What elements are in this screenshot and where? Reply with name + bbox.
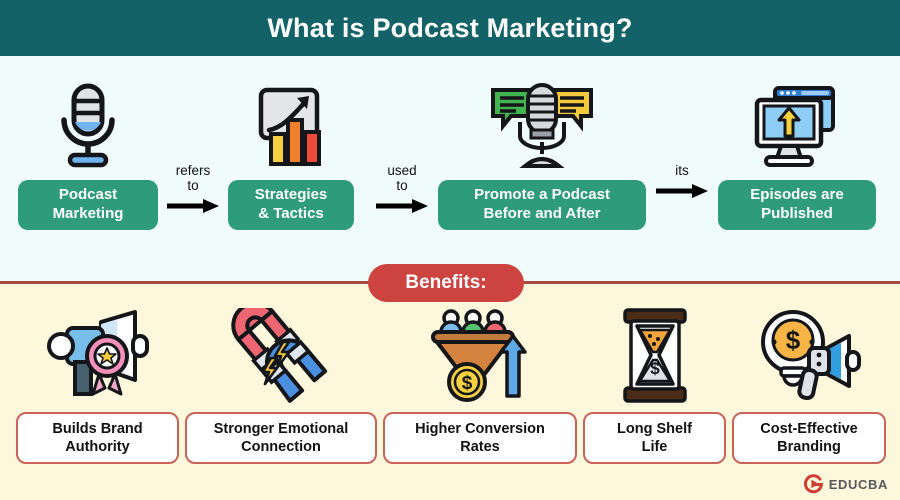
- flow-label-episodes-published: Episodes are Published: [718, 180, 876, 230]
- benefit-label-cost-effective-branding: Cost-Effective Branding: [732, 412, 886, 464]
- header-banner: What is Podcast Marketing?: [0, 0, 900, 56]
- flow-label-strategies-tactics: Strategies & Tactics: [228, 180, 354, 230]
- arrow-right-icon: [654, 183, 710, 199]
- page-title: What is Podcast Marketing?: [267, 13, 632, 44]
- connector-label-refers-to: refers to: [176, 164, 211, 194]
- connector-label-its: its: [675, 164, 689, 179]
- conversion-funnel-icon: $: [425, 306, 535, 404]
- microphone-icon: [52, 80, 124, 172]
- educba-wordmark: EDUCBA: [829, 477, 888, 492]
- benefits-pill-label: Benefits:: [405, 272, 486, 294]
- monitor-upload-icon: [749, 80, 845, 172]
- connector-label-used-to: used to: [387, 164, 416, 194]
- benefit-item-cost-effective-branding: $ Cost-Effective Branding: [732, 306, 886, 464]
- magnet-link-icon: [231, 306, 331, 404]
- benefit-item-long-shelf-life: $ Long Shelf Life: [583, 306, 726, 464]
- connector-used-to: used to: [372, 164, 432, 214]
- benefit-item-higher-conversion-rates: $ Higher Conversion Rates: [383, 306, 577, 464]
- lightbulb-megaphone-icon: $: [757, 306, 861, 404]
- flow-node-podcast-marketing: Podcast Marketing: [18, 80, 158, 230]
- flow-node-promote-podcast: Promote a Podcast Before and After: [438, 80, 646, 230]
- svg-text:$: $: [786, 325, 801, 355]
- arrow-right-icon: [165, 198, 221, 214]
- connector-its: its: [652, 164, 712, 199]
- flow-node-strategies-tactics: Strategies & Tactics: [228, 80, 354, 230]
- connector-refers-to: refers to: [163, 164, 223, 214]
- benefit-item-stronger-emotional-connection: Stronger Emotional Connection: [185, 306, 377, 464]
- benefit-label-stronger-emotional-connection: Stronger Emotional Connection: [185, 412, 377, 464]
- svg-text:$: $: [462, 373, 473, 394]
- megaphone-award-icon: [45, 306, 151, 404]
- studio-mic-chat-icon: [483, 80, 601, 172]
- benefit-item-builds-brand-authority: Builds Brand Authority: [16, 306, 179, 464]
- benefit-label-long-shelf-life: Long Shelf Life: [583, 412, 726, 464]
- hourglass-money-icon: $: [619, 306, 691, 404]
- arrow-right-icon: [374, 198, 430, 214]
- infographic-canvas: What is Podcast Marketing? Podcast Marke…: [0, 0, 900, 500]
- benefit-label-higher-conversion-rates: Higher Conversion Rates: [383, 412, 577, 464]
- educba-logo: EDUCBA: [804, 474, 888, 494]
- svg-text:$: $: [650, 359, 660, 378]
- flow-label-podcast-marketing: Podcast Marketing: [18, 180, 158, 230]
- benefits-pill: Benefits:: [368, 264, 524, 302]
- bar-chart-growth-icon: [249, 80, 333, 172]
- flow-label-promote-podcast: Promote a Podcast Before and After: [438, 180, 646, 230]
- benefits-section: Builds Brand Authority: [0, 284, 900, 500]
- benefit-label-builds-brand-authority: Builds Brand Authority: [16, 412, 179, 464]
- process-flow-section: Podcast Marketing refers to: [0, 56, 900, 282]
- educba-play-circle-icon: [804, 474, 824, 494]
- flow-node-episodes-published: Episodes are Published: [718, 80, 876, 230]
